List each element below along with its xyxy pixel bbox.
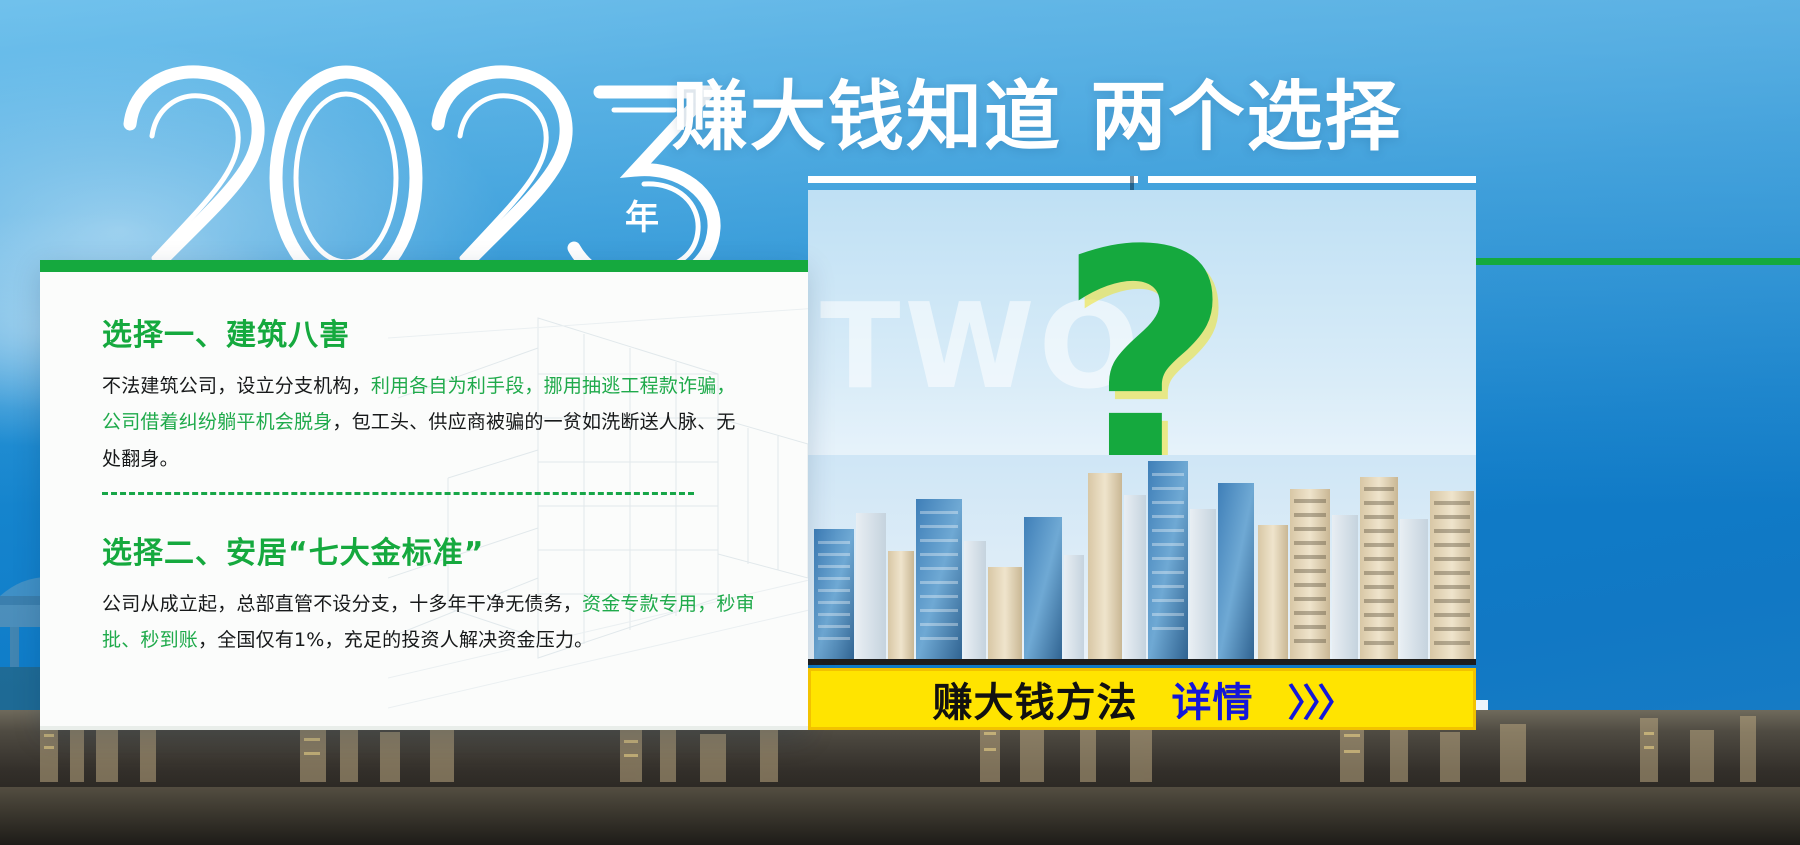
- cta-details-link[interactable]: 详情: [1171, 670, 1253, 728]
- right-green-accent-bar: [1452, 258, 1800, 265]
- section-two-body: 公司从成立起，总部直管不设分支，十多年干净无债务，资金专款专用，秒审批、秒到账，…: [102, 586, 762, 659]
- section-one: 选择一、建筑八害 不法建筑公司，设立分支机构，利用各自为利手段，挪用抽逃工程款诈…: [102, 310, 752, 477]
- section-two-body-part-1: 公司从成立起，总部直管不设分支，十多年干净无债务，: [102, 593, 582, 615]
- year-2023-outline: [108, 62, 728, 292]
- city-skyline-image: [808, 455, 1476, 665]
- section-divider: [102, 492, 694, 495]
- section-one-title: 选择一、建筑八害: [102, 310, 752, 354]
- headline-rule-left: [808, 176, 1138, 183]
- section-two-title: 选择二、安居“七大金标准”: [102, 528, 762, 572]
- content-card: 选择一、建筑八害 不法建筑公司，设立分支机构，利用各自为利手段，挪用抽逃工程款诈…: [40, 260, 808, 730]
- chevron-right-triple-icon[interactable]: 〉〉〉: [1287, 672, 1351, 727]
- section-one-body-part-1: 不法建筑公司，设立分支机构，: [102, 375, 371, 397]
- page-title: 赚大钱知道 两个选择: [672, 78, 1402, 156]
- cta-main-label: 赚大钱方法: [932, 670, 1137, 728]
- choices-panel: TWO CHOICES ?: [808, 190, 1476, 665]
- section-one-body: 不法建筑公司，设立分支机构，利用各自为利手段，挪用抽逃工程款诈骗，公司借着纠纷躺…: [102, 368, 752, 477]
- headline-rule-right: [1148, 176, 1476, 183]
- waterfront-reflection: [0, 787, 1800, 845]
- section-two: 选择二、安居“七大金标准” 公司从成立起，总部直管不设分支，十多年干净无债务，资…: [102, 528, 762, 659]
- poster-canvas: 年 赚大钱知道 两个选择 TWO CHOICES ?: [0, 0, 1800, 845]
- card-top-accent-bar: [40, 260, 808, 272]
- bottom-city-strip: [0, 710, 1800, 845]
- card-bottom-line: [40, 726, 808, 730]
- year-suffix-label: 年: [625, 190, 659, 239]
- cta-banner[interactable]: 赚大钱方法 详情 〉〉〉: [808, 668, 1476, 730]
- section-two-body-part-3: ，全国仅有1%，充足的投资人解决资金压力。: [198, 629, 593, 651]
